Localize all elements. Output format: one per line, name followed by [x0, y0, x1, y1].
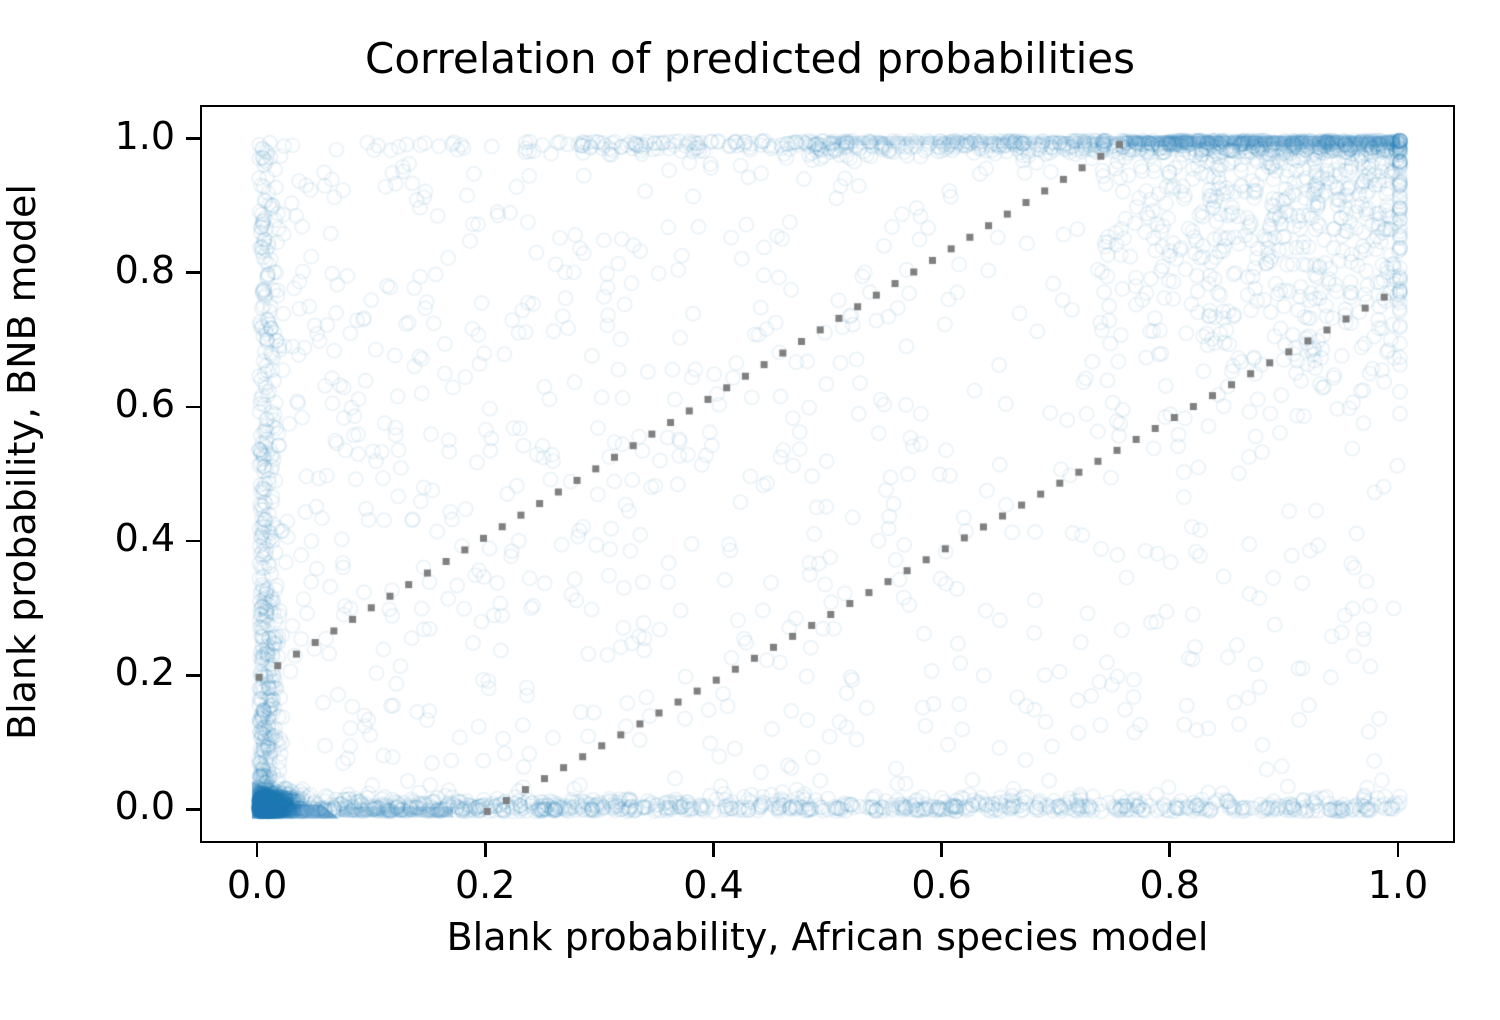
y-tick-mark — [186, 540, 200, 543]
y-tick-label: 0.6 — [20, 382, 175, 426]
x-tick-label: 0.0 — [167, 863, 347, 907]
x-tick-label: 1.0 — [1308, 863, 1488, 907]
y-tick-label: 0.0 — [20, 784, 175, 828]
x-tick-mark — [1168, 843, 1171, 857]
x-tick-label: 0.8 — [1080, 863, 1260, 907]
plot-area — [200, 105, 1455, 843]
y-tick-label: 0.8 — [20, 248, 175, 292]
y-tick-mark — [186, 271, 200, 274]
y-tick-mark — [186, 808, 200, 811]
x-tick-label: 0.4 — [623, 863, 803, 907]
x-tick-label: 0.2 — [395, 863, 575, 907]
x-tick-mark — [484, 843, 487, 857]
scatter-plot-figure: Correlation of predicted probabilities B… — [0, 0, 1500, 1020]
scatter-canvas — [202, 107, 1457, 845]
y-tick-label: 0.2 — [20, 650, 175, 694]
y-tick-label: 1.0 — [20, 114, 175, 158]
y-tick-mark — [186, 674, 200, 677]
x-tick-mark — [712, 843, 715, 857]
page-title: Correlation of predicted probabilities — [0, 34, 1500, 83]
y-tick-label: 0.4 — [20, 516, 175, 560]
x-tick-mark — [1397, 843, 1400, 857]
x-tick-mark — [940, 843, 943, 857]
x-axis-label: Blank probability, African species model — [200, 915, 1455, 959]
y-tick-mark — [186, 137, 200, 140]
y-tick-mark — [186, 406, 200, 409]
x-tick-label: 0.6 — [852, 863, 1032, 907]
x-tick-mark — [256, 843, 259, 857]
